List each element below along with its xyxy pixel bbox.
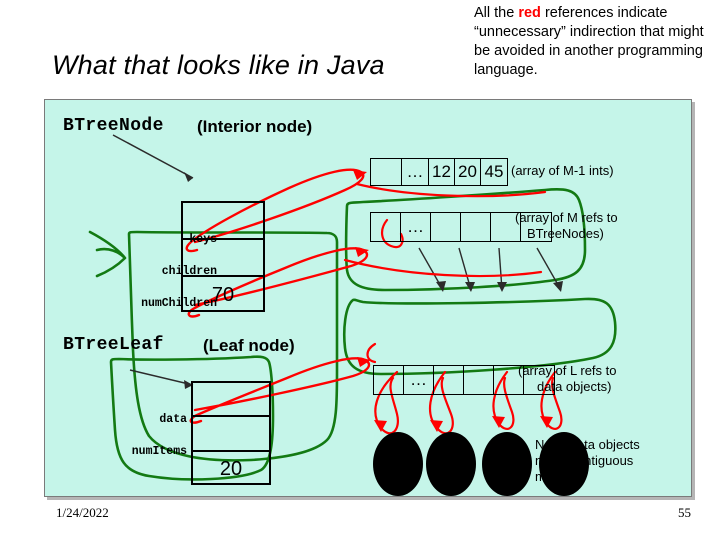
leaf-cell-data — [193, 417, 269, 452]
leaf-node-struct: 20 — [191, 381, 271, 485]
data-array-caption-line1: (array of L refs to — [518, 363, 617, 379]
footer-page-number: 55 — [678, 505, 691, 521]
children-array-caption-line1: (array of M refs to — [515, 210, 618, 226]
keys-array-caption: (array of M-1 ints) — [511, 163, 614, 179]
red-sweep-lower — [345, 260, 541, 276]
top-note-pre: All the — [474, 5, 518, 21]
interior-node-struct: 70 — [181, 201, 265, 312]
leaf-class-name: BTreeLeaf — [63, 335, 164, 355]
black-arrow-node-label — [113, 135, 193, 178]
keys-array-cell: … — [402, 159, 429, 185]
keys-array-cell: 20 — [455, 159, 481, 185]
keys-array-cell: 12 — [429, 159, 455, 185]
data-objects-note-line2: not in contiguous — [535, 453, 633, 469]
data-array-cell — [434, 366, 464, 394]
leaf-field-label-data: data — [75, 413, 187, 426]
data-object-blob — [426, 432, 476, 496]
keys-array-cell: 45 — [481, 159, 507, 185]
red-arrowhead-keys — [353, 170, 367, 180]
interior-class-name: BTreeNode — [63, 116, 164, 136]
interior-cell-children — [183, 240, 263, 277]
data-array-cell — [374, 366, 404, 394]
children-array-cell — [431, 213, 461, 241]
children-array-cell: … — [401, 213, 431, 241]
interior-kind-label: (Interior node) — [197, 117, 312, 137]
slide-root: All the red references indicate “unneces… — [0, 0, 720, 540]
page-title: What that looks like in Java — [52, 50, 385, 81]
children-array-caption-line2: BTreeNodes) — [527, 226, 604, 242]
slide-frame: BTreeNode (Interior node) keys children … — [44, 99, 692, 497]
top-note-highlight: red — [518, 5, 541, 21]
data-array-caption-line2: data objects) — [537, 379, 611, 395]
data-array-cell: … — [404, 366, 434, 394]
data-object-blob — [373, 432, 423, 496]
interior-cell-numchildren: 70 — [183, 277, 263, 314]
keys-array: … 12 20 45 — [370, 158, 508, 186]
top-right-note: All the red references indicate “unneces… — [474, 4, 718, 80]
children-array-cell — [371, 213, 401, 241]
leaf-cell-blank — [193, 383, 269, 417]
interior-cell-keys — [183, 203, 263, 240]
black-arrow-leaf-label — [130, 370, 193, 385]
data-object-blob — [482, 432, 532, 496]
children-array-cell — [461, 213, 491, 241]
leaf-field-label-numitems: numItems — [59, 445, 187, 458]
leaf-kind-label: (Leaf node) — [203, 336, 295, 356]
red-hook-data-array — [368, 344, 376, 362]
keys-array-cell — [371, 159, 402, 185]
red-data-object-arrowheads — [374, 416, 553, 432]
data-array-cell — [464, 366, 494, 394]
data-objects-note-line3: memory. — [535, 469, 585, 485]
leaf-cell-numitems: 20 — [193, 452, 269, 487]
footer-date: 1/24/2022 — [56, 505, 109, 521]
data-objects-note-line1: Note: data objects — [535, 437, 640, 453]
